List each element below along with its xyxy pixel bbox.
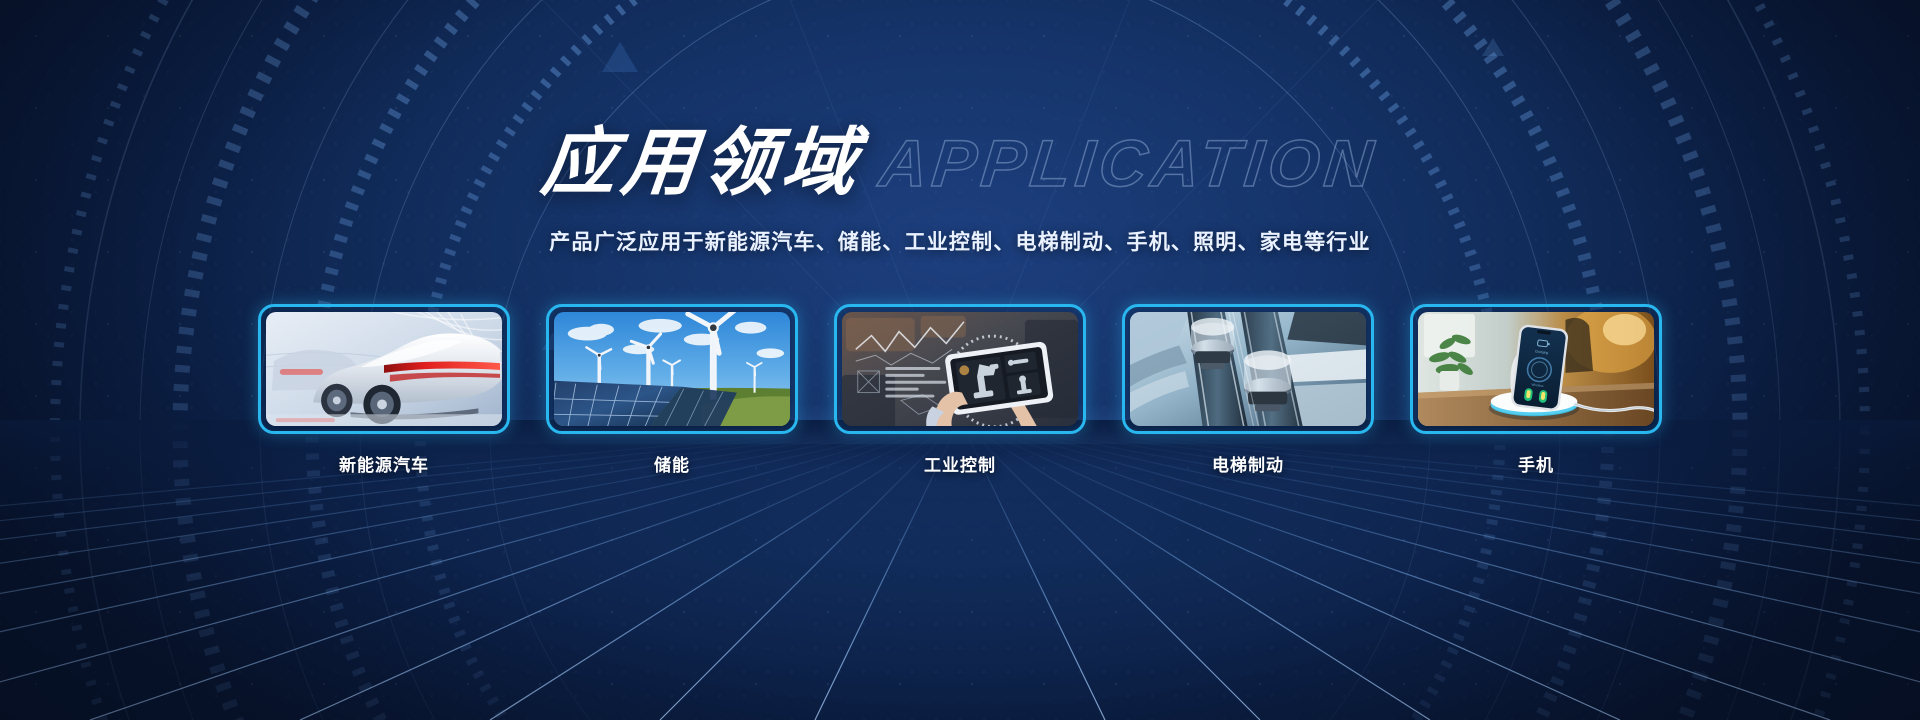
page-title: 应用领域 [538,126,866,200]
application-banner: 应用领域 APPLICATION 产品广泛应用于新能源汽车、储能、工业控制、电梯… [0,0,1920,720]
banner-heading-block: 应用领域 APPLICATION 产品广泛应用于新能源汽车、储能、工业控制、电梯… [0,126,1920,256]
application-card[interactable]: 电梯制动 [1122,304,1374,476]
card-frame[interactable] [834,304,1086,434]
page-subtitle: 产品广泛应用于新能源汽车、储能、工业控制、电梯制动、手机、照明、家电等行业 [0,226,1920,256]
card-frame[interactable] [258,304,510,434]
decor-triangle-icon [600,40,640,74]
card-label: 储能 [654,451,690,476]
application-card[interactable]: Charging Wireless [1410,304,1662,476]
card-label: 新能源汽车 [339,451,429,476]
card-label: 电梯制动 [1212,451,1284,476]
new-energy-vehicle-photo [266,312,502,426]
application-card[interactable]: 工业控制 [834,304,1086,476]
application-card-list: 新能源汽车 [0,304,1920,476]
title-line: 应用领域 APPLICATION [542,126,1377,200]
card-frame[interactable]: Charging Wireless [1410,304,1662,434]
card-label: 工业控制 [924,451,996,476]
industrial-control-photo [842,312,1078,426]
card-label: 手机 [1518,451,1554,476]
application-card[interactable]: 新能源汽车 [258,304,510,476]
card-frame[interactable] [1122,304,1374,434]
decor-triangle-icon [1480,36,1506,58]
page-title-english: APPLICATION [877,130,1381,196]
card-frame[interactable] [546,304,798,434]
energy-storage-photo [554,312,790,426]
mobile-phone-photo: Charging Wireless [1418,312,1654,426]
elevator-brake-photo [1130,312,1366,426]
application-card[interactable]: 储能 [546,304,798,476]
